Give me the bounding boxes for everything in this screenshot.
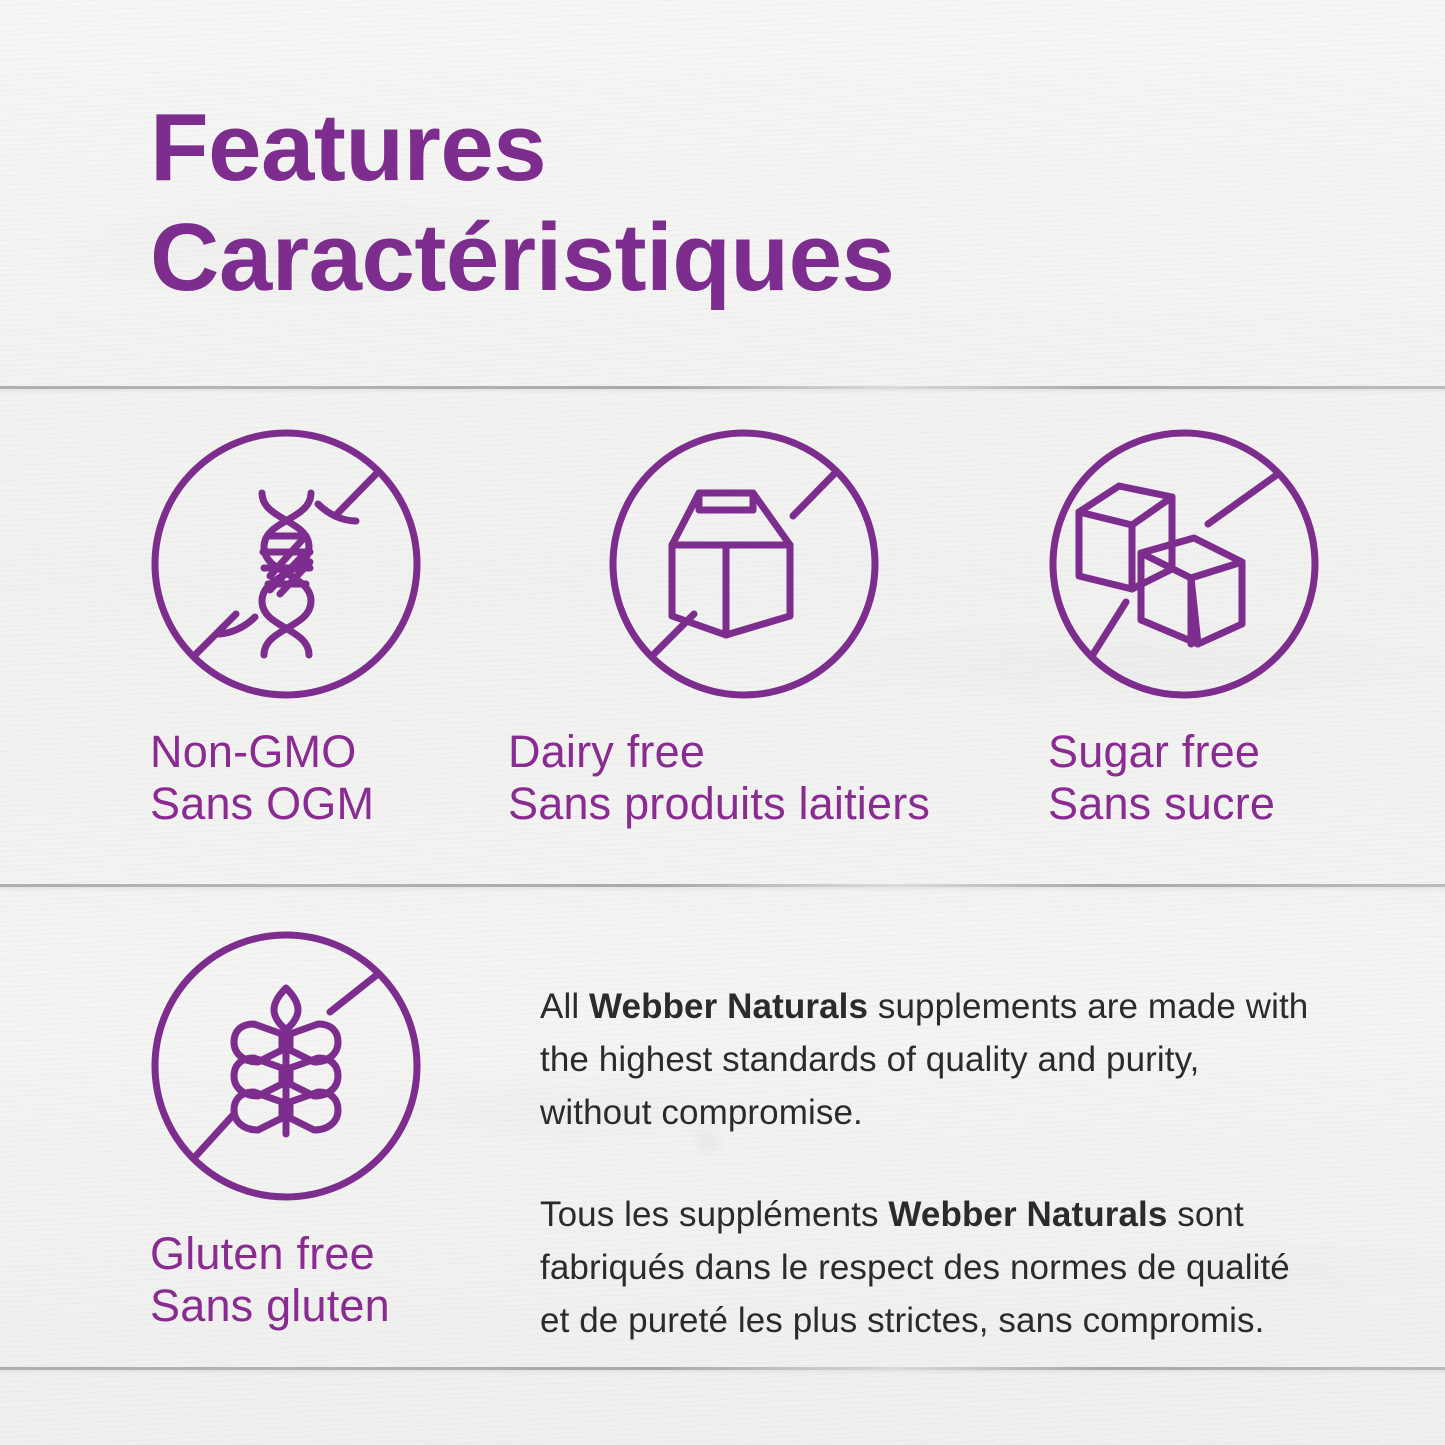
feature-sugar-free: Sugar free Sans sucre [1048,428,1320,830]
paragraph-english: All Webber Naturals supplements are made… [540,980,1320,1140]
no-sugar-cubes-icon [1048,428,1320,700]
brand-name-fr: Webber Naturals [888,1195,1167,1234]
feature-label-fr: Sans OGM [150,778,422,830]
paragraph-fr-before-brand: Tous les suppléments [540,1195,888,1234]
feature-non-gmo: Non-GMO Sans OGM [150,428,422,830]
page-title-french: Caractéristiques [150,206,894,310]
feature-label-en: Gluten free [150,1228,422,1280]
paragraph-french: Tous les suppléments Webber Naturals son… [540,1188,1320,1348]
feature-label-en: Non-GMO [150,726,422,778]
paragraph-en-before-brand: All [540,987,589,1026]
feature-label-non-gmo: Non-GMO Sans OGM [150,726,422,830]
no-dna-helix-icon [150,428,422,700]
feature-label-en: Dairy free [508,726,930,778]
no-milk-carton-icon [608,428,880,700]
feature-label-sugar-free: Sugar free Sans sucre [1048,726,1320,830]
page-title: Features Caractéristiques [150,96,894,309]
feature-label-dairy-free: Dairy free Sans produits laitiers [508,726,930,830]
body-copy: All Webber Naturals supplements are made… [540,980,1320,1347]
feature-dairy-free: Dairy free Sans produits laitiers [608,428,930,830]
no-wheat-stalk-icon [150,930,422,1202]
feature-label-fr: Sans gluten [150,1280,422,1332]
feature-label-fr: Sans sucre [1048,778,1320,830]
feature-label-fr: Sans produits laitiers [508,778,930,830]
brand-name-en: Webber Naturals [589,987,868,1026]
feature-label-en: Sugar free [1048,726,1320,778]
page-title-english: Features [150,96,894,200]
feature-gluten-free: Gluten free Sans gluten [150,930,422,1332]
feature-label-gluten-free: Gluten free Sans gluten [150,1228,422,1332]
